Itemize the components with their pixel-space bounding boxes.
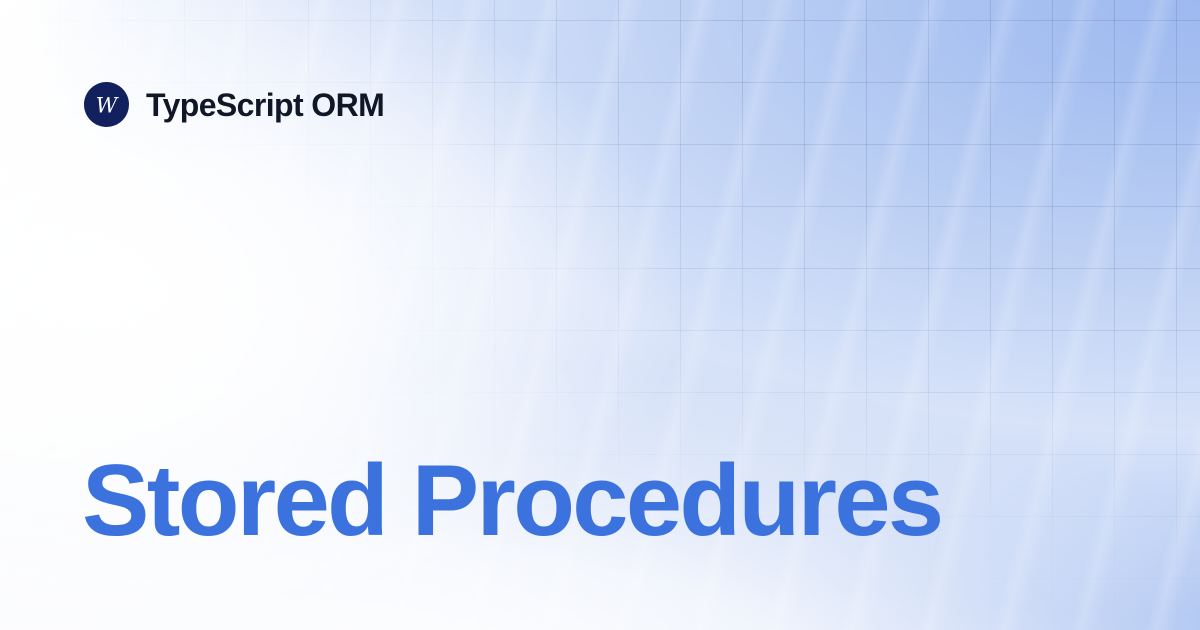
w-monogram-icon: W [84, 82, 129, 127]
page-title: Stored Procedures [82, 448, 941, 555]
banner-content: W TypeScript ORM Stored Procedures [0, 0, 1200, 630]
og-banner-card: W TypeScript ORM Stored Procedures [0, 0, 1200, 630]
svg-text:W: W [96, 94, 120, 118]
brand-name: TypeScript ORM [146, 89, 384, 121]
brand-lockup: W TypeScript ORM [84, 82, 384, 127]
